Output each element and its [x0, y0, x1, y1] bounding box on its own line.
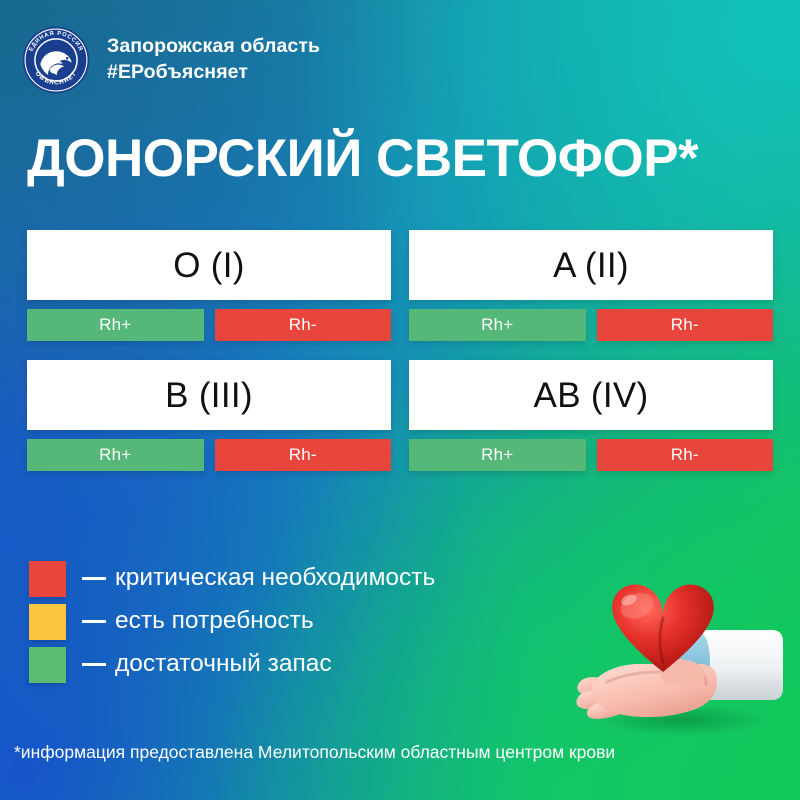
header-hashtag: #ЕРобъясняет — [107, 60, 320, 86]
legend-swatch-needed — [29, 604, 66, 640]
legend-dash — [82, 577, 106, 580]
footer-note: *информация предоставлена Мелитопольским… — [14, 744, 615, 762]
blood-group-card: A (II) Rh+ Rh- — [409, 230, 773, 341]
rh-row: Rh+ Rh- — [409, 309, 773, 341]
hand-holding-heart-icon — [567, 562, 792, 742]
blood-group-label: O (I) — [27, 230, 391, 300]
legend-swatch-critical — [29, 561, 66, 597]
blood-group-grid: O (I) Rh+ Rh- A (II) Rh+ Rh- B (III) — [27, 230, 773, 471]
header: ЕДИНАЯ РОССИЯ ОБЪЯСНЯЕТ Запорожская обла… — [22, 26, 320, 94]
rh-positive-badge: Rh+ — [409, 439, 586, 471]
poster: ЕДИНАЯ РОССИЯ ОБЪЯСНЯЕТ Запорожская обла… — [0, 0, 800, 800]
rh-positive-badge: Rh+ — [27, 309, 204, 341]
page-title: ДОНОРСКИЙ СВЕТОФОР* — [27, 132, 698, 185]
legend-dash — [82, 663, 106, 666]
legend-swatch-sufficient — [29, 647, 66, 683]
rh-negative-badge: Rh- — [597, 439, 774, 471]
legend-label: есть потребность — [115, 609, 314, 634]
header-text-block: Запорожская область #ЕРобъясняет — [107, 34, 320, 85]
blood-group-label-text: B (III) — [165, 378, 253, 413]
blood-group-label: AB (IV) — [409, 360, 773, 430]
rh-negative-badge: Rh- — [215, 309, 392, 341]
rh-negative-badge: Rh- — [215, 439, 392, 471]
rh-positive-badge: Rh+ — [409, 309, 586, 341]
blood-group-card: AB (IV) Rh+ Rh- — [409, 360, 773, 471]
rh-positive-badge: Rh+ — [27, 439, 204, 471]
blood-group-label-text: A (II) — [553, 248, 629, 283]
rh-row: Rh+ Rh- — [27, 309, 391, 341]
blood-group-card: B (III) Rh+ Rh- — [27, 360, 391, 471]
blood-group-label: A (II) — [409, 230, 773, 300]
legend: критическая необходимость есть потребнос… — [29, 557, 435, 686]
legend-item: критическая необходимость — [29, 557, 435, 600]
blood-group-label: B (III) — [27, 360, 391, 430]
header-region: Запорожская область — [107, 34, 320, 60]
legend-dash — [82, 620, 106, 623]
united-russia-logo: ЕДИНАЯ РОССИЯ ОБЪЯСНЯЕТ — [22, 26, 90, 94]
legend-label: достаточный запас — [115, 652, 332, 677]
rh-row: Rh+ Rh- — [409, 439, 773, 471]
blood-group-card: O (I) Rh+ Rh- — [27, 230, 391, 341]
blood-group-label-text: AB (IV) — [534, 378, 649, 413]
legend-item: есть потребность — [29, 600, 435, 643]
rh-row: Rh+ Rh- — [27, 439, 391, 471]
blood-group-label-text: O (I) — [173, 248, 244, 283]
legend-item: достаточный запас — [29, 643, 435, 686]
legend-label: критическая необходимость — [115, 566, 435, 591]
rh-negative-badge: Rh- — [597, 309, 774, 341]
